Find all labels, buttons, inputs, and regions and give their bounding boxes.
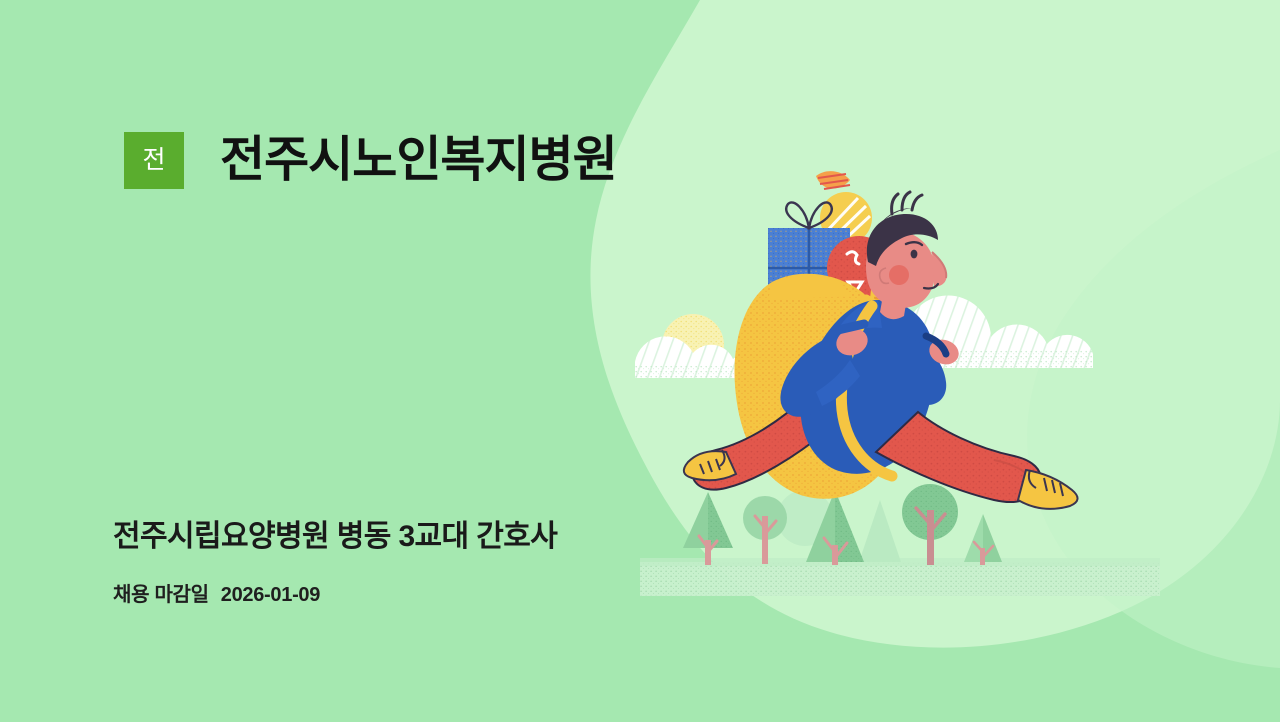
job-title: 전주시립요양병원 병동 3교대 간호사 — [113, 519, 557, 555]
deadline-row: 채용 마감일 2026-01-09 — [113, 583, 320, 607]
job-posting-card: 전 전주시노인복지병원 전주시립요양병원 병동 3교대 간호사 채용 마감일 2… — [0, 0, 1280, 722]
text-layer: 전 전주시노인복지병원 전주시립요양병원 병동 3교대 간호사 채용 마감일 2… — [0, 0, 1280, 722]
brand-name: 전주시노인복지병원 — [220, 136, 617, 185]
deadline-date: 2026-01-09 — [221, 583, 320, 607]
brand-badge: 전 — [124, 132, 184, 189]
brand-row: 전 전주시노인복지병원 — [124, 130, 617, 190]
deadline-label: 채용 마감일 — [113, 583, 209, 607]
